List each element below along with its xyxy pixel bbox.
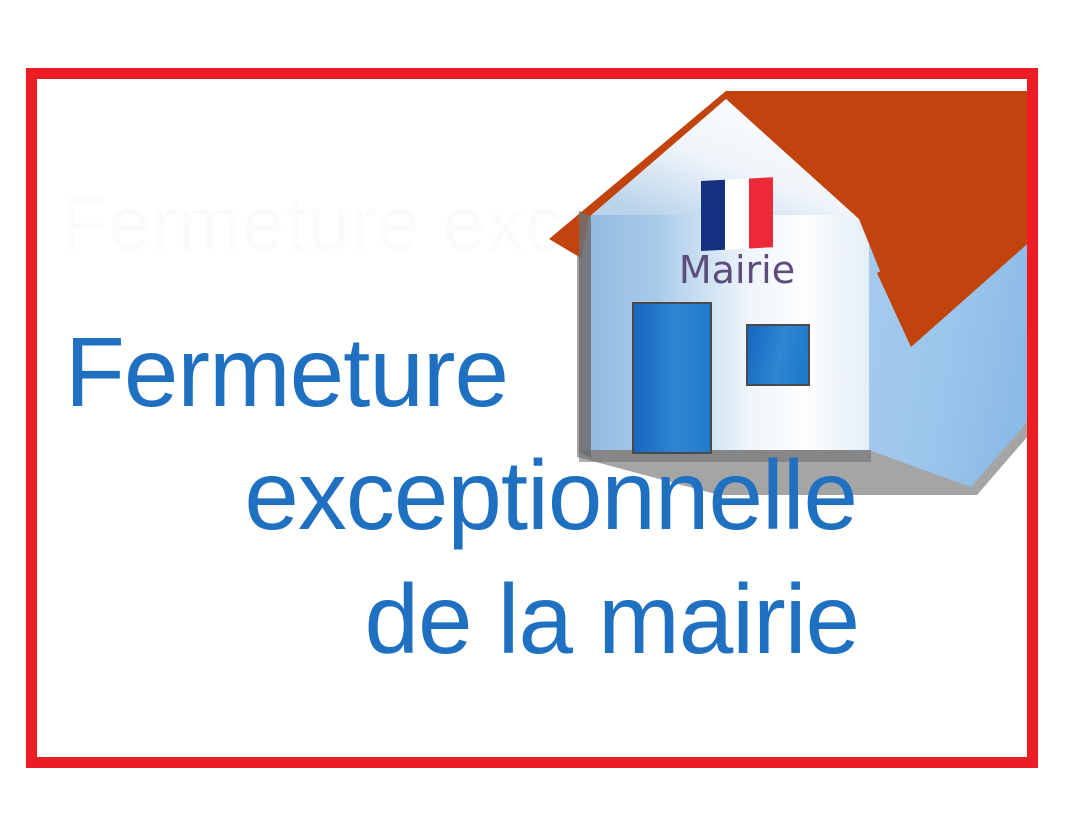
building-label: Mairie — [679, 248, 795, 292]
flag-stripe-red — [749, 177, 773, 248]
headline-line-3: de la mairie — [37, 558, 879, 681]
headline-line-2: exceptionnelle — [37, 434, 879, 557]
poster-root: Fermeture exceptionnelle — [0, 0, 1068, 840]
flag-stripe-white — [725, 178, 749, 249]
headline-line-1: Fermeture — [37, 311, 879, 434]
notice-card-inner: Fermeture exceptionnelle — [37, 79, 1027, 757]
headline-block: Fermeture exceptionnelle de la mairie — [37, 311, 1027, 681]
notice-card: Fermeture exceptionnelle — [26, 68, 1038, 768]
flag-stripe-blue — [701, 180, 725, 251]
french-flag — [701, 177, 773, 251]
